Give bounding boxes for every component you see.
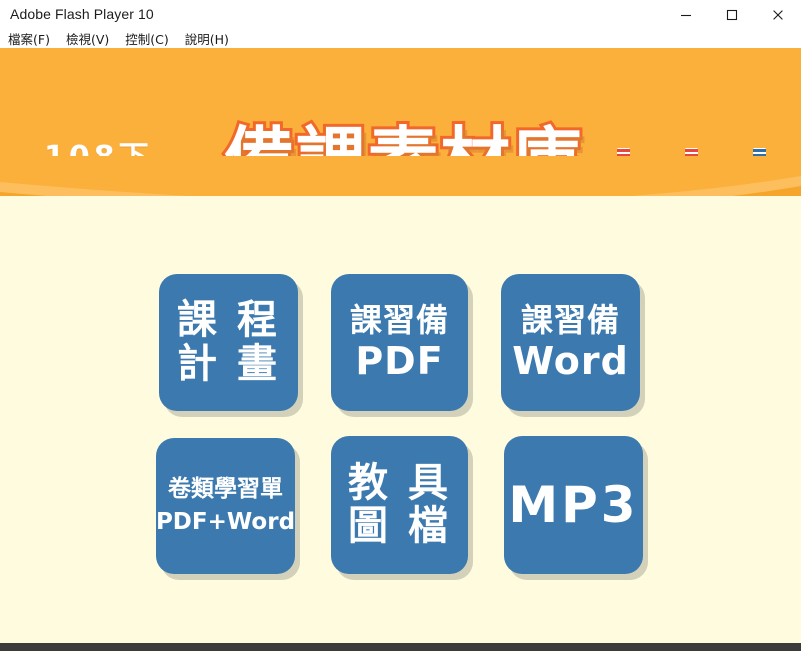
tile-label-line1: 教 具: [348, 462, 451, 505]
tile-lesson-prep-word[interactable]: 課習備 Word: [501, 274, 640, 411]
minimize-button[interactable]: [663, 0, 709, 29]
taskbar-edge: [0, 643, 801, 651]
close-icon: [771, 8, 785, 22]
maximize-button[interactable]: [709, 0, 755, 29]
tile-label-line2: PDF: [355, 341, 443, 382]
tile-mp3-audio[interactable]: MP3: [504, 436, 643, 574]
tile-label-line1: MP3: [508, 478, 638, 532]
minimize-icon: [679, 8, 693, 22]
tile-label-line2: PDF+Word: [156, 510, 295, 535]
tile-label-line1: 課習備: [521, 303, 620, 338]
menu-item-file[interactable]: 檔案(F): [8, 29, 50, 48]
title-bar: Adobe Flash Player 10: [0, 0, 801, 29]
tile-worksheets[interactable]: 卷類學習單 PDF+Word: [156, 438, 295, 574]
tile-lesson-prep-pdf[interactable]: 課習備 PDF: [331, 274, 468, 411]
tile-teaching-aids[interactable]: 教 具 圖 檔: [331, 436, 468, 574]
tile-label-line2: 圖 檔: [348, 505, 451, 548]
tile-label-line1: 課 程: [177, 299, 280, 342]
window-title: Adobe Flash Player 10: [10, 6, 154, 22]
menu-bar: 檔案(F) 檢視(V) 控制(C) 說明(H): [0, 29, 801, 48]
window-controls: [663, 0, 801, 29]
menu-item-view[interactable]: 檢視(V): [66, 29, 109, 48]
tile-label-line2: 計 畫: [177, 343, 280, 386]
tile-label-line1: 卷類學習單: [168, 477, 283, 502]
tile-label-line2: Word: [512, 341, 629, 382]
flash-stage: 108下 國中英語 備課素材庫 7: [0, 48, 801, 643]
close-button[interactable]: [755, 0, 801, 29]
menu-item-help[interactable]: 說明(H): [185, 29, 229, 48]
main-button-grid: 課 程 計 畫 課習備 PDF 課習備 Word 卷類學習單 PDF+Word …: [0, 48, 801, 643]
tile-course-plan[interactable]: 課 程 計 畫: [159, 274, 298, 411]
maximize-icon: [725, 8, 739, 22]
flash-player-window: Adobe Flash Player 10 檔案(F) 檢視(V) 控制(C): [0, 0, 801, 651]
menu-item-control[interactable]: 控制(C): [125, 29, 168, 48]
tile-label-line1: 課習備: [350, 303, 449, 338]
